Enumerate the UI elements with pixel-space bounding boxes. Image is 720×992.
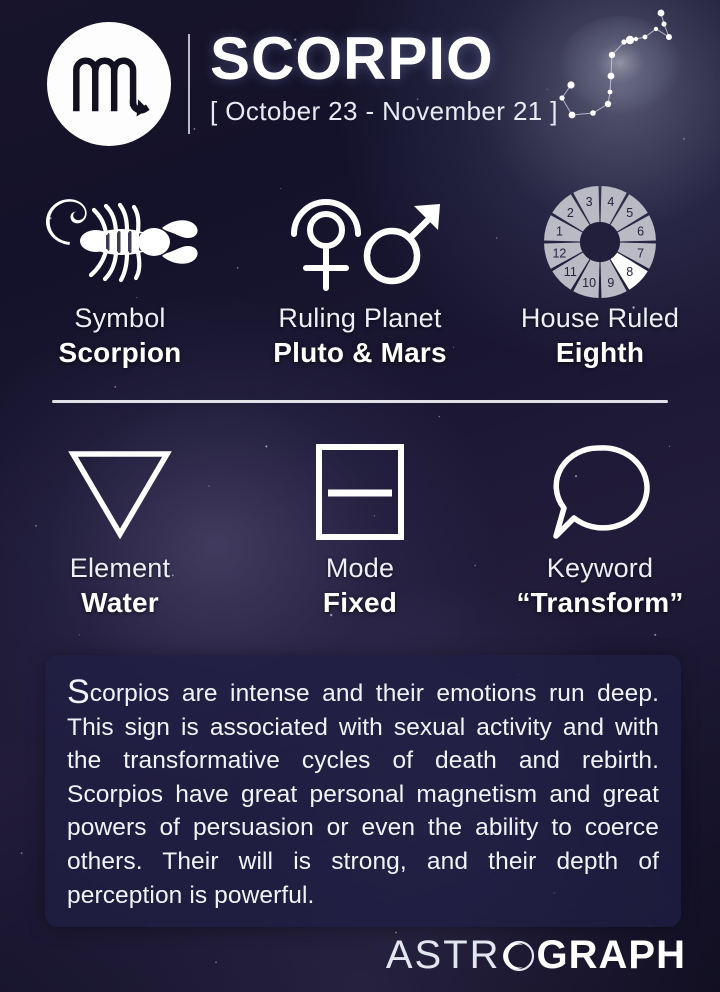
logo-text-light: ASTR (386, 933, 501, 978)
attribute-symbol: Symbol Scorpion (0, 182, 240, 370)
fixed-square-icon (312, 440, 408, 544)
astrograph-logo: ASTR GRAPH (386, 933, 686, 978)
description-panel: Scorpios are intense and their emotions … (45, 655, 681, 927)
description-text: Scorpios are intense and their emotions … (67, 676, 659, 912)
glyph-arrow-tip (137, 99, 148, 116)
logo-text-bold: GRAPH (537, 933, 686, 978)
description-dropcap: S (67, 673, 90, 711)
house-number-11: 11 (564, 265, 577, 279)
house-wheel-icon-box: 123456789101112 (540, 182, 660, 302)
house-wheel-icon: 123456789101112 (540, 182, 660, 302)
speech-bubble-icon (544, 440, 656, 544)
pluto-mars-icon-box (270, 182, 450, 302)
attribute-value: Pluto & Mars (273, 336, 447, 370)
scorpio-zodiac-infographic: SCORPIO [ October 23 - November 21 ] (0, 0, 720, 992)
scorpius-constellation-icon (548, 6, 713, 166)
attribute-mode: Mode Fixed (240, 432, 480, 620)
house-number-3: 3 (586, 195, 593, 209)
house-number-1: 1 (556, 225, 563, 239)
page-title: SCORPIO (210, 28, 558, 90)
crescent-moon-o-icon (501, 936, 537, 976)
attribute-ruling-planet: Ruling Planet Pluto & Mars (240, 182, 480, 370)
section-divider (52, 400, 668, 403)
header: SCORPIO [ October 23 - November 21 ] (0, 0, 720, 170)
attribute-row-top: Symbol Scorpion (0, 182, 720, 370)
attribute-label: Mode (326, 552, 394, 584)
scorpio-glyph-icon (66, 41, 152, 127)
attribute-label: Keyword (547, 552, 653, 584)
water-triangle-icon (64, 442, 176, 542)
house-number-8: 8 (626, 265, 633, 279)
attribute-label: Element (70, 552, 170, 584)
attribute-label: House Ruled (521, 302, 679, 334)
scorpio-glyph-badge (47, 22, 171, 146)
attribute-value: Water (81, 586, 159, 620)
mars-symbol (367, 212, 436, 281)
attribute-label: Ruling Planet (278, 302, 441, 334)
house-number-5: 5 (626, 206, 633, 220)
speech-bubble-icon-box (544, 432, 656, 552)
house-number-9: 9 (607, 276, 614, 290)
header-divider (188, 34, 190, 134)
date-range: [ October 23 - November 21 ] (210, 94, 558, 128)
attribute-value: Fixed (323, 586, 397, 620)
scorpion-icon-box (36, 182, 204, 302)
attribute-value: Scorpion (59, 336, 182, 370)
house-number-6: 6 (637, 225, 644, 239)
house-number-12: 12 (552, 246, 566, 260)
attribute-row-bottom: Element Water Mode Fixed Keyword “Transf… (0, 432, 720, 620)
title-block: SCORPIO [ October 23 - November 21 ] (210, 28, 558, 128)
house-number-7: 7 (637, 246, 644, 260)
attribute-value: Eighth (556, 336, 644, 370)
house-number-10: 10 (582, 276, 596, 290)
attribute-value: “Transform” (516, 586, 683, 620)
pluto-mars-icon (270, 188, 450, 296)
pluto-symbol (294, 202, 358, 288)
fixed-square-icon-box (312, 432, 408, 552)
water-triangle-icon-box (64, 432, 176, 552)
attribute-element: Element Water (0, 432, 240, 620)
scorpion-icon (36, 186, 204, 298)
house-number-2: 2 (567, 206, 574, 220)
attribute-label: Symbol (74, 302, 165, 334)
wheel-hub (580, 222, 620, 262)
house-number-4: 4 (607, 195, 614, 209)
description-body: corpios are intense and their emotions r… (67, 680, 659, 909)
attribute-keyword: Keyword “Transform” (480, 432, 720, 620)
attribute-house-ruled: 123456789101112 House Ruled Eighth (480, 182, 720, 370)
